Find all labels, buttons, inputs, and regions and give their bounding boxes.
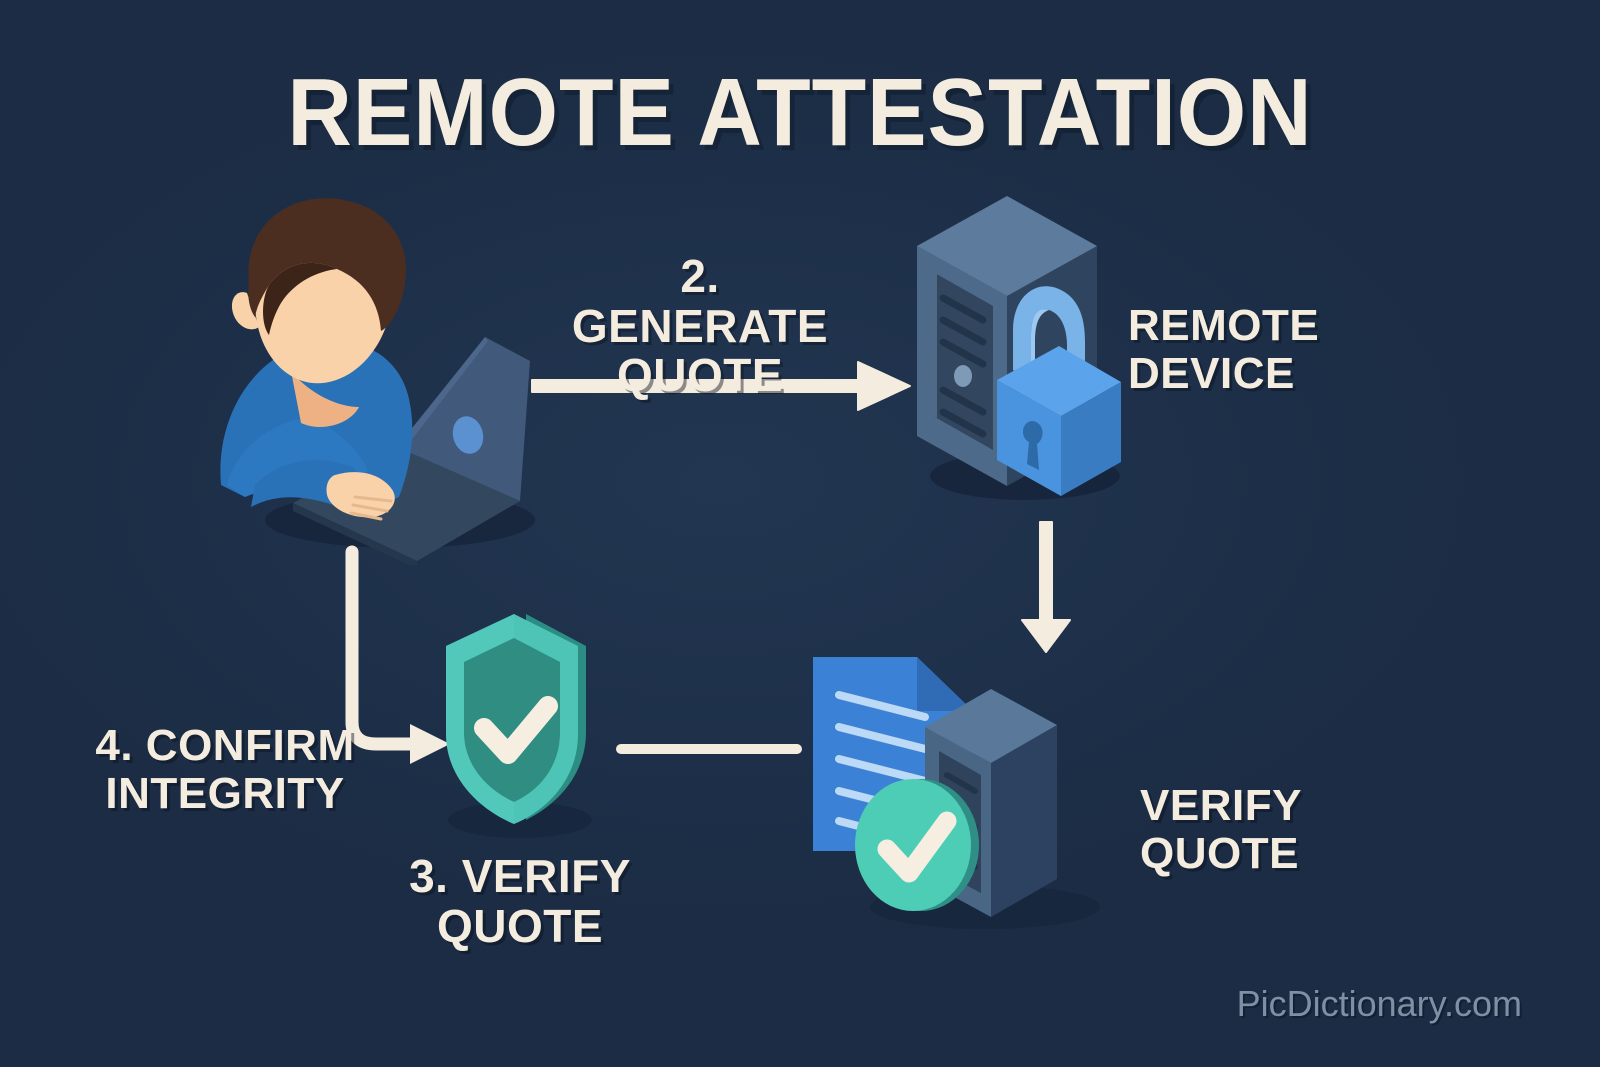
step-label-generate-quote: 2. GENERATE QUOTE bbox=[550, 252, 850, 401]
node-label-verify-quote: VERIFY QUOTE bbox=[1140, 782, 1302, 877]
server-tower-with-padlock-icon bbox=[885, 180, 1145, 510]
person-with-laptop-icon bbox=[185, 185, 545, 565]
page-title: REMOTE ATTESTATION bbox=[56, 58, 1544, 168]
step-label-confirm-integrity: 4. CONFIRM INTEGRITY bbox=[80, 722, 370, 817]
document-with-check-icon bbox=[795, 635, 1125, 935]
arrow-down-icon bbox=[1018, 520, 1074, 654]
diagram-canvas: REMOTE ATTESTATION bbox=[0, 0, 1600, 1067]
watermark: PicDictionary.com bbox=[1237, 983, 1522, 1025]
step-label-verify-quote-shield: 3. VERIFY QUOTE bbox=[380, 852, 660, 951]
connector-line-icon bbox=[614, 740, 804, 758]
node-label-remote-device: REMOTE DEVICE bbox=[1128, 302, 1319, 397]
shield-check-icon bbox=[418, 602, 618, 852]
